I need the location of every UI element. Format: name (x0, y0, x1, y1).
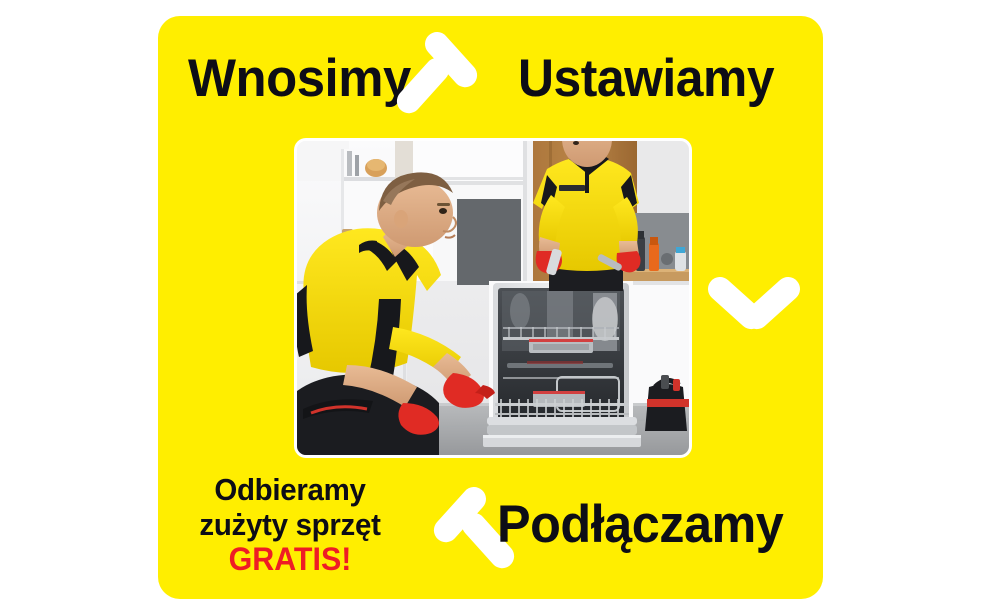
pickup-offer-block: Odbieramy zużyty sprzęt GRATIS! (182, 473, 398, 578)
step-label-podlaczamy: Podłączamy (497, 498, 783, 551)
installation-photo (297, 141, 689, 455)
pickup-line-1: Odbieramy (187, 473, 392, 508)
step-label-wnosimy: Wnosimy (188, 52, 411, 105)
pickup-free-badge: GRATIS! (187, 542, 392, 578)
promo-banner: Wnosimy Ustawiamy Odbieramy zużyty sprzę… (0, 0, 1000, 612)
step-label-ustawiamy: Ustawiamy (518, 52, 774, 105)
installation-photo-graphic (297, 141, 689, 455)
chevron-right-icon (425, 30, 501, 126)
chevron-left-icon (412, 485, 488, 581)
pickup-line-2: zużyty sprzęt (187, 508, 392, 543)
chevron-down-icon (706, 277, 806, 351)
